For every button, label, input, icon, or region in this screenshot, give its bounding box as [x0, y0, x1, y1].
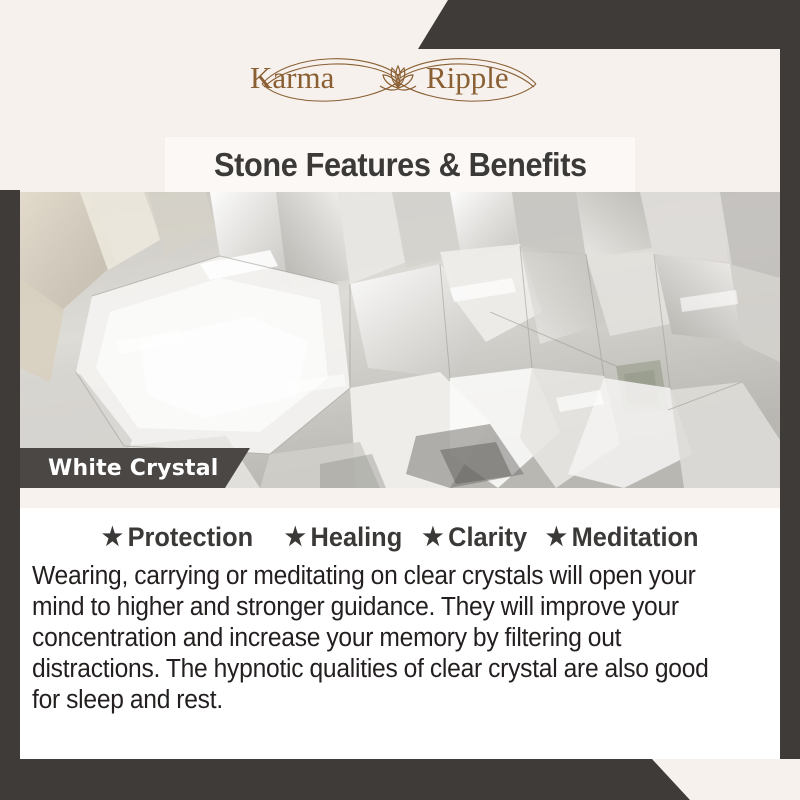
benefit-item-meditation: ★ Meditation: [546, 522, 699, 553]
photo-caption-banner: White Crystal: [20, 448, 250, 488]
star-icon: ★: [284, 525, 305, 550]
benefit-item-clarity: ★ Clarity: [422, 522, 527, 553]
page-title: Stone Features & Benefits: [214, 146, 587, 184]
benefit-item-protection: ★ Protection: [101, 522, 252, 553]
lotus-flower-icon: [380, 66, 416, 90]
photo-caption-label: White Crystal: [48, 456, 219, 481]
frame-left-border: [0, 190, 20, 775]
benefit-label: Protection: [127, 522, 253, 553]
description-paragraph: Wearing, carrying or meditating on clear…: [32, 561, 731, 716]
brand-logo-svg: Karma Ripple: [250, 44, 550, 112]
frame-right-border: [780, 49, 800, 761]
crystal-photo: [20, 192, 780, 488]
star-icon: ★: [422, 525, 443, 550]
brand-name-left: Karma: [250, 60, 335, 95]
brand-logo: Karma Ripple: [0, 44, 800, 112]
benefit-label: Healing: [310, 522, 402, 553]
star-icon: ★: [546, 525, 567, 550]
frame-top-right-accent: [418, 0, 800, 49]
page-title-bar: Stone Features & Benefits: [165, 137, 635, 192]
stone-info-card: Karma Ripple Stone Features & Benefits: [0, 0, 800, 800]
benefits-row: ★ Protection ★ Healing ★ Clarity ★ Medit…: [20, 516, 780, 558]
star-icon: ★: [101, 525, 122, 550]
brand-name-right: Ripple: [426, 60, 509, 95]
benefit-label: Meditation: [572, 522, 699, 553]
photo-under-strip: [20, 488, 780, 508]
benefit-label: Clarity: [448, 522, 527, 553]
crystal-photo-art: [20, 192, 780, 488]
benefit-item-healing: ★ Healing: [284, 522, 401, 553]
